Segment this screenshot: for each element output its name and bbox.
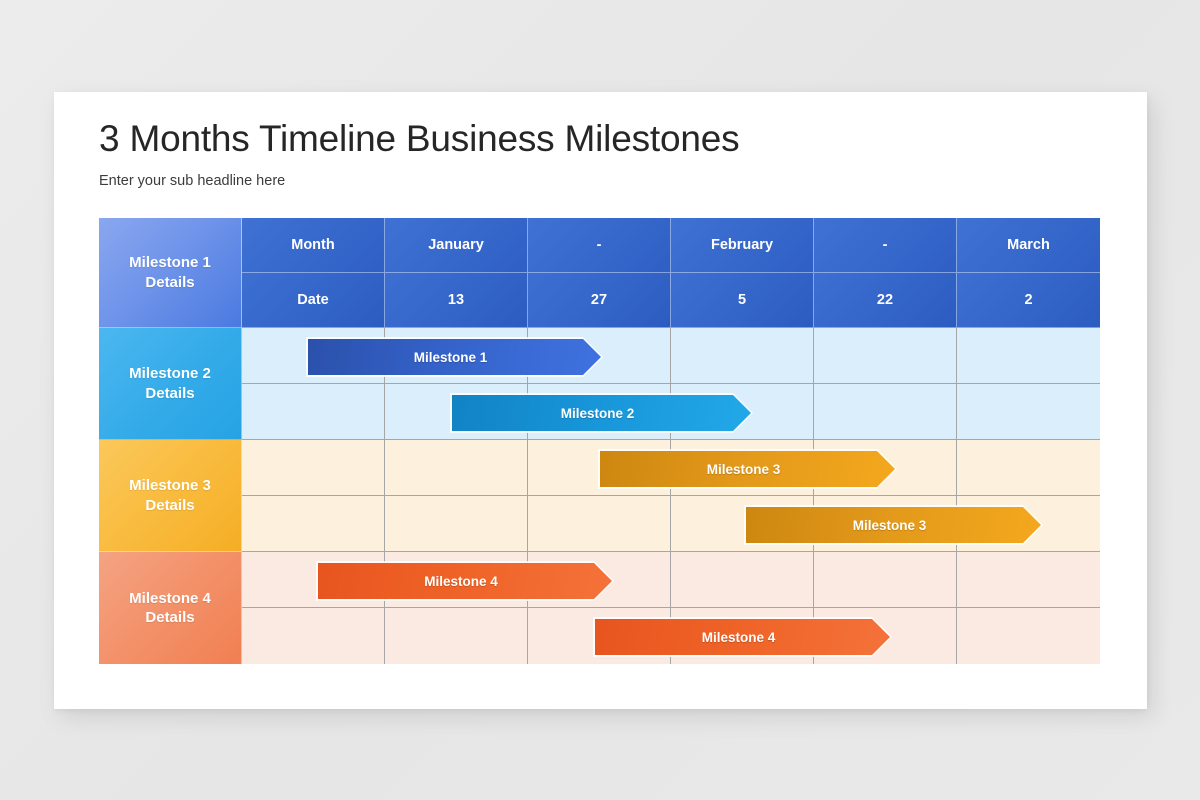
milestone-bar-5[interactable]: Milestone 4 bbox=[318, 563, 612, 599]
grid-cell bbox=[957, 384, 1100, 440]
grid-cell bbox=[957, 608, 1100, 664]
header-cell-month-blank-2: - bbox=[814, 218, 957, 273]
milestone-bar-label: Milestone 1 bbox=[414, 350, 496, 365]
milestone-bar-2[interactable]: Milestone 2 bbox=[452, 395, 751, 431]
milestone-bar-1-wrap: Milestone 1 bbox=[306, 337, 603, 377]
row-label-line1: Milestone 1 bbox=[129, 253, 211, 272]
milestone-bar-label: Milestone 3 bbox=[707, 462, 789, 477]
grid-cell bbox=[957, 440, 1100, 496]
row-label-line2: Details bbox=[129, 384, 211, 403]
row-label-milestone-4: Milestone 4 Details bbox=[99, 552, 242, 664]
page-root: 3 Months Timeline Business Milestones En… bbox=[0, 0, 1200, 800]
slide-canvas: 3 Months Timeline Business Milestones En… bbox=[54, 92, 1147, 709]
grid-cell bbox=[385, 608, 528, 664]
grid-cell bbox=[957, 328, 1100, 384]
grid-cell bbox=[242, 496, 385, 552]
header-cell-date-2: 2 bbox=[957, 273, 1100, 328]
milestone-bar-label: Milestone 3 bbox=[853, 518, 935, 533]
milestone-bar-2-wrap: Milestone 2 bbox=[450, 393, 753, 433]
header-cell-date-label: Date bbox=[242, 273, 385, 328]
row-label-line2: Details bbox=[129, 496, 211, 515]
grid-cell bbox=[814, 328, 957, 384]
header-cell-date-27: 27 bbox=[528, 273, 671, 328]
grid-cell bbox=[242, 384, 385, 440]
row-label-milestone-3: Milestone 3 Details bbox=[99, 440, 242, 552]
grid-cell bbox=[814, 552, 957, 608]
header-cell-date-22: 22 bbox=[814, 273, 957, 328]
row-label-milestone-2: Milestone 2 Details bbox=[99, 328, 242, 440]
header-cell-month-january: January bbox=[385, 218, 528, 273]
row-label-line2: Details bbox=[129, 273, 211, 292]
grid-cell bbox=[385, 496, 528, 552]
grid-cell bbox=[671, 552, 814, 608]
milestone-bar-4-wrap: Milestone 3 bbox=[744, 505, 1043, 545]
milestone-bar-6[interactable]: Milestone 4 bbox=[595, 619, 890, 655]
grid-cell bbox=[528, 496, 671, 552]
page-subtitle: Enter your sub headline here bbox=[99, 173, 285, 189]
row-label-line1: Milestone 4 bbox=[129, 589, 211, 608]
row-label-line1: Milestone 2 bbox=[129, 364, 211, 383]
header-cell-month-february: February bbox=[671, 218, 814, 273]
row-label-milestone-1: Milestone 1 Details bbox=[99, 218, 242, 328]
timeline-table: Milestone 1 Details Milestone 2 Details … bbox=[99, 218, 1100, 664]
grid-cell bbox=[385, 440, 528, 496]
header-cell-date-13: 13 bbox=[385, 273, 528, 328]
grid-cell bbox=[814, 384, 957, 440]
header-cell-month-blank-1: - bbox=[528, 218, 671, 273]
milestone-bar-3-wrap: Milestone 3 bbox=[598, 449, 897, 489]
grid-cell bbox=[671, 328, 814, 384]
row-label-line1: Milestone 3 bbox=[129, 476, 211, 495]
milestone-bar-label: Milestone 4 bbox=[702, 630, 784, 645]
milestone-bar-6-wrap: Milestone 4 bbox=[593, 617, 892, 657]
milestone-bar-label: Milestone 2 bbox=[561, 406, 643, 421]
milestone-bar-label: Milestone 4 bbox=[424, 574, 506, 589]
header-cell-date-5: 5 bbox=[671, 273, 814, 328]
grid-cell bbox=[242, 440, 385, 496]
header-cell-month-label: Month bbox=[242, 218, 385, 273]
header-cell-month-march: March bbox=[957, 218, 1100, 273]
milestone-bar-4[interactable]: Milestone 3 bbox=[746, 507, 1041, 543]
milestone-bar-5-wrap: Milestone 4 bbox=[316, 561, 614, 601]
grid-cell bbox=[242, 608, 385, 664]
page-title: 3 Months Timeline Business Milestones bbox=[99, 118, 739, 160]
grid-cell bbox=[957, 552, 1100, 608]
milestone-bar-3[interactable]: Milestone 3 bbox=[600, 451, 895, 487]
milestone-bar-1[interactable]: Milestone 1 bbox=[308, 339, 601, 375]
row-label-line2: Details bbox=[129, 608, 211, 627]
